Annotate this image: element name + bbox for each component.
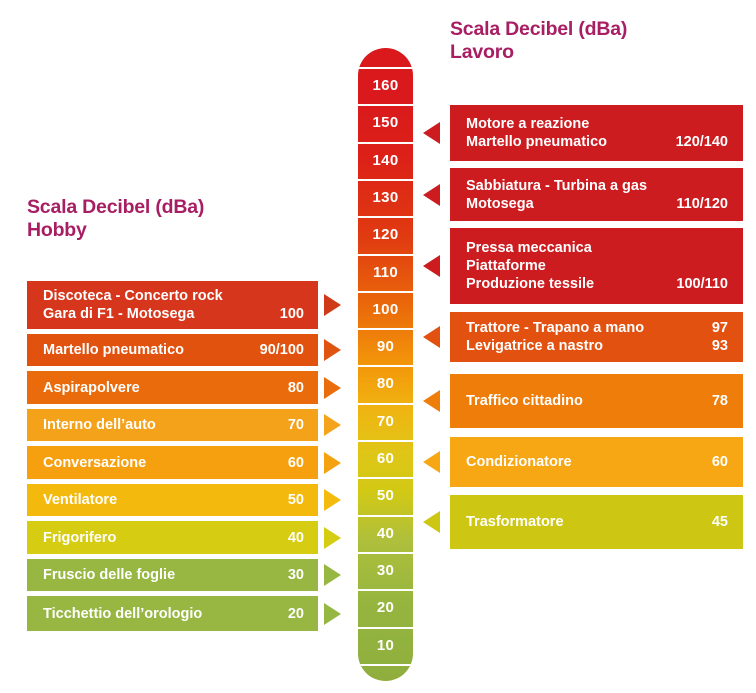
scale-tick-label: 70: [358, 414, 413, 429]
scale-tick-label: 110: [358, 265, 413, 280]
hobby-row[interactable]: Ticchettio dell’orologio20: [27, 596, 318, 631]
scale-tick-label: 160: [358, 78, 413, 93]
hobby-title: Scala Decibel (dBa) Hobby: [27, 196, 204, 242]
lavoro-row[interactable]: Condizionatore60: [450, 437, 743, 487]
hobby-row[interactable]: Aspirapolvere80: [27, 371, 318, 404]
scale-tick-line: [358, 365, 413, 367]
scale-tick-label: 20: [358, 600, 413, 615]
hobby-row[interactable]: Frigorifero40: [27, 521, 318, 554]
lavoro-pointer-icon: [423, 326, 440, 348]
row-content: Interno dell’auto70: [43, 416, 304, 434]
row-value: 120/140: [676, 115, 728, 151]
hobby-row[interactable]: Discoteca - Concerto rock Gara di F1 - M…: [27, 281, 318, 329]
lavoro-row[interactable]: Trattore - Trapano a mano Levigatrice a …: [450, 312, 743, 362]
lavoro-pointer-icon: [423, 451, 440, 473]
hobby-pointer-icon: [324, 527, 341, 549]
row-label: Sabbiatura - Turbina a gas Motosega: [466, 177, 647, 213]
scale-tick-line: [358, 440, 413, 442]
row-label: Traffico cittadino: [466, 392, 583, 410]
hobby-pointer-icon: [324, 294, 341, 316]
decibel-scale-thermometer: 160150140130120110100908070605040302010: [358, 48, 413, 681]
scale-tick-label: 120: [358, 227, 413, 242]
lavoro-row[interactable]: Pressa meccanica Piattaforme Produzione …: [450, 228, 743, 304]
lavoro-row[interactable]: Traffico cittadino78: [450, 374, 743, 428]
hobby-pointer-icon: [324, 452, 341, 474]
row-value: 90/100: [260, 341, 304, 359]
scale-tick-line: [358, 403, 413, 405]
row-content: Ticchettio dell’orologio20: [43, 605, 304, 623]
row-value: 60: [712, 453, 728, 471]
scale-tick-line: [358, 142, 413, 144]
lavoro-pointer-icon: [423, 122, 440, 144]
row-content: Traffico cittadino78: [466, 392, 728, 410]
scale-tick-line: [358, 67, 413, 69]
row-content: Motore a reazione Martello pneumatico 12…: [466, 115, 728, 151]
scale-tick-line: [358, 104, 413, 106]
hobby-pointer-icon: [324, 377, 341, 399]
row-value: 97 93: [712, 319, 728, 355]
row-label: Trattore - Trapano a mano Levigatrice a …: [466, 319, 644, 355]
hobby-row[interactable]: Martello pneumatico90/100: [27, 334, 318, 366]
lavoro-row[interactable]: Trasformatore45: [450, 495, 743, 549]
hobby-row[interactable]: Interno dell’auto70: [27, 409, 318, 441]
row-label: Aspirapolvere: [43, 379, 140, 397]
scale-tick-line: [358, 216, 413, 218]
scale-tick-line: [358, 328, 413, 330]
row-content: Martello pneumatico90/100: [43, 341, 304, 359]
row-value: 78: [712, 392, 728, 410]
row-label: Interno dell’auto: [43, 416, 156, 434]
row-content: Conversazione60: [43, 454, 304, 472]
infographic-canvas: Scala Decibel (dBa) Hobby Scala Decibel …: [0, 0, 756, 693]
row-content: Sabbiatura - Turbina a gas Motosega 110/…: [466, 177, 728, 213]
row-value: 80: [288, 379, 304, 397]
scale-tick-line: [358, 552, 413, 554]
scale-tick-label: 50: [358, 488, 413, 503]
row-content: Frigorifero40: [43, 529, 304, 547]
hobby-row[interactable]: Conversazione60: [27, 446, 318, 479]
row-label: Martello pneumatico: [43, 341, 184, 359]
row-value: 60: [288, 454, 304, 472]
row-content: Ventilatore50: [43, 491, 304, 509]
scale-tick-label: 40: [358, 526, 413, 541]
lavoro-pointer-icon: [423, 511, 440, 533]
scale-tick-label: 100: [358, 302, 413, 317]
row-content: Aspirapolvere80: [43, 379, 304, 397]
row-label: Pressa meccanica Piattaforme Produzione …: [466, 239, 594, 293]
hobby-pointer-icon: [324, 564, 341, 586]
scale-tick-label: 150: [358, 115, 413, 130]
row-label: Condizionatore: [466, 453, 572, 471]
hobby-pointer-icon: [324, 603, 341, 625]
row-label: Motore a reazione Martello pneumatico: [466, 115, 607, 151]
lavoro-row[interactable]: Motore a reazione Martello pneumatico 12…: [450, 105, 743, 161]
hobby-row[interactable]: Ventilatore50: [27, 484, 318, 516]
row-value: 70: [288, 416, 304, 434]
row-label: Discoteca - Concerto rock Gara di F1 - M…: [43, 287, 223, 323]
scale-tick-label: 90: [358, 339, 413, 354]
scale-tick-line: [358, 627, 413, 629]
row-content: Discoteca - Concerto rock Gara di F1 - M…: [43, 287, 304, 323]
row-label: Frigorifero: [43, 529, 116, 547]
row-value: 100/110: [676, 239, 728, 293]
lavoro-pointer-icon: [423, 390, 440, 412]
row-value: 30: [288, 566, 304, 584]
row-value: 40: [288, 529, 304, 547]
scale-tick-label: 30: [358, 563, 413, 578]
row-content: Trattore - Trapano a mano Levigatrice a …: [466, 319, 728, 355]
lavoro-pointer-icon: [423, 184, 440, 206]
row-value: 45: [712, 513, 728, 531]
hobby-pointer-icon: [324, 489, 341, 511]
row-label: Ventilatore: [43, 491, 117, 509]
hobby-pointer-icon: [324, 339, 341, 361]
hobby-row[interactable]: Fruscio delle foglie30: [27, 559, 318, 591]
scale-tick-line: [358, 254, 413, 256]
row-label: Trasformatore: [466, 513, 564, 531]
row-content: Fruscio delle foglie30: [43, 566, 304, 584]
hobby-pointer-icon: [324, 414, 341, 436]
row-label: Conversazione: [43, 454, 146, 472]
row-value: 100: [280, 287, 304, 323]
scale-tick-line: [358, 664, 413, 666]
row-label: Ticchettio dell’orologio: [43, 605, 202, 623]
row-content: Condizionatore60: [466, 453, 728, 471]
row-label: Fruscio delle foglie: [43, 566, 175, 584]
lavoro-title: Scala Decibel (dBa) Lavoro: [450, 18, 627, 64]
scale-tick-label: 130: [358, 190, 413, 205]
scale-tick-label: 60: [358, 451, 413, 466]
row-content: Trasformatore45: [466, 513, 728, 531]
scale-tick-line: [358, 179, 413, 181]
scale-tick-line: [358, 291, 413, 293]
scale-tick-label: 140: [358, 153, 413, 168]
scale-tick-group: 160150140130120110100908070605040302010: [358, 48, 413, 681]
scale-tick-line: [358, 515, 413, 517]
lavoro-row[interactable]: Sabbiatura - Turbina a gas Motosega 110/…: [450, 168, 743, 221]
scale-tick-line: [358, 477, 413, 479]
row-content: Pressa meccanica Piattaforme Produzione …: [466, 239, 728, 293]
scale-tick-label: 10: [358, 638, 413, 653]
scale-tick-line: [358, 589, 413, 591]
row-value: 20: [288, 605, 304, 623]
scale-tick-label: 80: [358, 376, 413, 391]
lavoro-pointer-icon: [423, 255, 440, 277]
row-value: 110/120: [676, 177, 728, 213]
row-value: 50: [288, 491, 304, 509]
